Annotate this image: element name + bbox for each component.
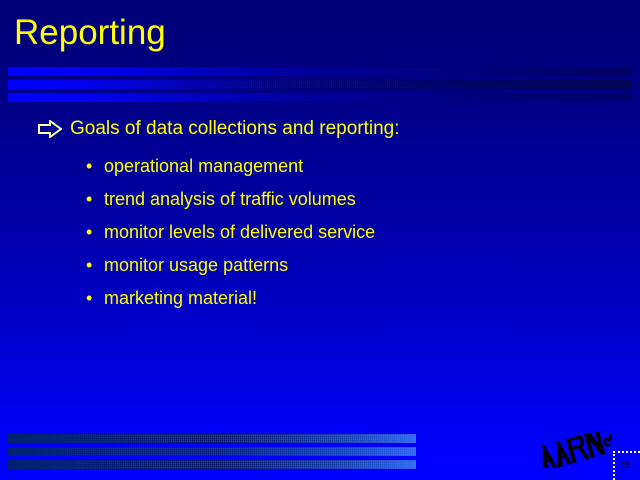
decor-bar-top-1 [8,67,632,76]
decor-bar-top-3 [8,93,632,102]
lead-bullet-row: Goals of data collections and reporting: [0,116,640,148]
bullet-marker: • [86,285,92,311]
page-number-placeholder-box[interactable]: 22 [613,451,640,480]
page-number: 22 [621,461,630,470]
list-item: • trend analysis of traffic volumes [86,186,606,219]
decor-bar-bottom-2 [8,447,416,456]
bullet-marker: • [86,219,92,245]
list-item-label: monitor levels of delivered service [104,222,375,242]
sub-bullet-list: • operational management • trend analysi… [86,153,606,318]
list-item: • monitor levels of delivered service [86,219,606,252]
decor-bar-bottom-1 [8,434,416,443]
list-item-label: marketing material! [104,288,257,308]
list-item: • marketing material! [86,285,606,318]
list-item-label: operational management [104,156,303,176]
list-item-label: monitor usage patterns [104,255,288,275]
hollow-right-arrow-icon [38,120,62,138]
list-item: • operational management [86,153,606,186]
bullet-marker: • [86,153,92,179]
aarnet-logo [532,432,612,468]
decor-bar-top-2 [8,80,632,89]
page-title: Reporting [14,13,166,53]
slide-body: Goals of data collections and reporting:… [0,116,640,148]
slide-canvas: Reporting Goals of data collections and … [0,0,640,480]
list-item-label: trend analysis of traffic volumes [104,189,356,209]
lead-bullet-text: Goals of data collections and reporting: [70,116,400,142]
bullet-marker: • [86,186,92,212]
list-item: • monitor usage patterns [86,252,606,285]
decor-bar-bottom-3 [8,460,416,469]
bullet-marker: • [86,252,92,278]
